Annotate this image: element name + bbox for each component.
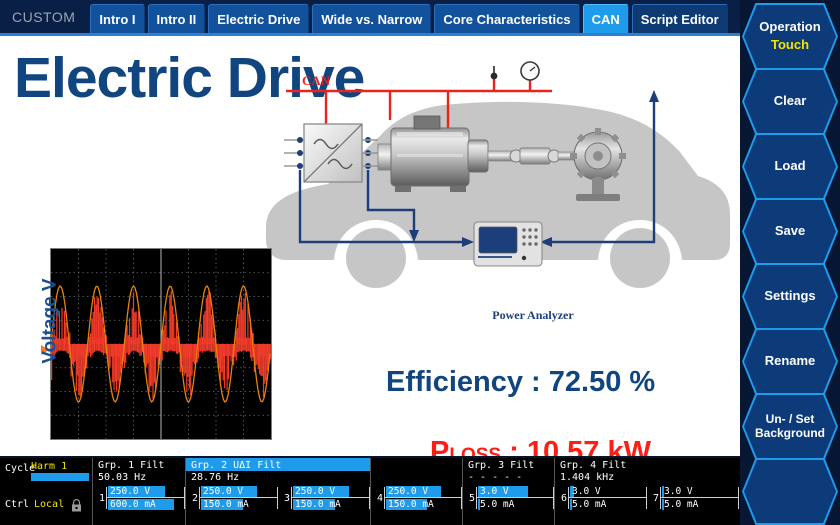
softkey-load-label: Load: [774, 159, 805, 174]
softkey-sidebar: Operation Touch Clear Load Save Settings: [740, 0, 840, 525]
softkey-clear-label: Clear: [774, 94, 807, 109]
channel-4-volt: 250.0 V: [388, 486, 428, 497]
group-1-title: Grp. 1 Filt: [93, 458, 185, 471]
softkey-rename-label: Rename: [765, 354, 816, 369]
softkey-rename[interactable]: Rename: [744, 330, 836, 393]
scope-display[interactable]: Voltage V: [50, 248, 278, 443]
softkey-operation[interactable]: Operation Touch: [744, 5, 836, 68]
main-canvas: Electric Drive: [0, 36, 740, 456]
ctrl-value[interactable]: Local: [34, 499, 64, 510]
channel-2-num: 2: [189, 493, 198, 504]
dynamometer: [570, 128, 626, 201]
softkey-empty[interactable]: [744, 460, 836, 523]
tab-core-characteristics[interactable]: Core Characteristics: [434, 4, 579, 33]
can-label: CAN: [302, 73, 331, 88]
power-analyzer-device: [474, 222, 542, 266]
group-1-column: Grp. 1 Filt 50.03 Hz 1 250.0 V 600.0 mA: [93, 458, 186, 525]
custom-label: CUSTOM: [8, 9, 87, 33]
group-3-column: Grp. 3 Filt - - - - - 5 3.0 V 5.0 mA: [463, 458, 555, 525]
tab-electric-drive[interactable]: Electric Drive: [208, 4, 309, 33]
inverter-input-terminals: [284, 137, 304, 169]
channel-5-bracket: 3.0 V 5.0 mA: [476, 485, 554, 511]
channel-5-amp: 5.0 mA: [480, 499, 514, 510]
channel-row[interactable]: 6 3.0 V 5.0 mA: [555, 484, 647, 512]
group-2-column: Grp. 2 UΔI Filt 28.76 Hz 2 250.0 V 150.0…: [186, 458, 371, 525]
channel-row[interactable]: 1 250.0 V 600.0 mA: [93, 484, 185, 512]
channel-row[interactable]: 3 250.0 V 150.0 mA: [278, 484, 370, 512]
softkey-unset-background[interactable]: Un- / Set Background: [744, 395, 836, 458]
shaft-coupling: [510, 148, 576, 164]
tab-bar: CUSTOM Intro I Intro II Electric Drive W…: [0, 0, 740, 33]
softkey-operation-frame[interactable]: Operation Touch: [742, 3, 838, 70]
channel-3-volt: 250.0 V: [295, 486, 335, 497]
channel-2-bracket: 250.0 V 150.0 mA: [199, 485, 278, 511]
channel-row[interactable]: 2 250.0 V 150.0 mA: [186, 484, 278, 512]
waveform-plot: [51, 249, 271, 439]
tab-intro-i[interactable]: Intro I: [90, 4, 144, 33]
tab-can[interactable]: CAN: [583, 4, 629, 33]
softkey-clear-frame[interactable]: Clear: [742, 68, 838, 135]
channel-3-num: 3: [281, 493, 290, 504]
tab-intro-ii[interactable]: Intro II: [148, 4, 206, 33]
power-loss-readout: PLOSS : 10.57 kW: [430, 436, 651, 456]
channel-6-num: 6: [558, 493, 567, 504]
channel-4-num: 4: [374, 493, 383, 504]
group-2-value: 28.76 Hz: [186, 471, 370, 484]
group-2-channel-4-column: . . 4 250.0 V 150.0 mA: [371, 458, 463, 525]
efficiency-value: 72.50 %: [549, 366, 655, 398]
softkey-background-frame[interactable]: Un- / Set Background: [742, 393, 838, 460]
softkey-load-frame[interactable]: Load: [742, 133, 838, 200]
power-analyzer-screen: CUSTOM Intro I Intro II Electric Drive W…: [0, 0, 840, 525]
group-4-value: 1.404 kHz: [555, 471, 740, 484]
cycle-value[interactable]: Harm 1: [31, 461, 67, 472]
ploss-separator: :: [501, 436, 527, 456]
ploss-subscript: LOSS: [449, 445, 501, 456]
drivetrain-schematic: CAN: [262, 58, 732, 308]
tab-wide-vs-narrow[interactable]: Wide vs. Narrow: [312, 4, 431, 33]
channel-5-num: 5: [466, 493, 475, 504]
softkey-empty-frame[interactable]: [742, 458, 838, 525]
channel-2-amp: 150.0 mA: [203, 499, 249, 510]
channel-4-amp: 150.0 mA: [388, 499, 434, 510]
channel-4-bracket: 250.0 V 150.0 mA: [384, 485, 462, 511]
softkey-save-frame[interactable]: Save: [742, 198, 838, 265]
softkey-operation-value: Touch: [771, 38, 809, 53]
scope-screen[interactable]: [50, 248, 272, 440]
sensor-icons: [491, 62, 539, 80]
group-4-title: Grp. 4 Filt: [555, 458, 740, 471]
inverter-output-terminals: [362, 137, 378, 169]
channel-1-volt: 250.0 V: [110, 486, 150, 497]
channel-6-volt: 3.0 V: [572, 486, 601, 497]
softkey-settings-label: Settings: [764, 289, 815, 304]
ploss-label: P: [430, 436, 449, 456]
cycle-control-column: Cycle Harm 1 Ctrl Local: [0, 458, 93, 525]
softkey-settings[interactable]: Settings: [744, 265, 836, 328]
group-2-title[interactable]: Grp. 2 UΔI Filt: [186, 458, 370, 471]
softkey-rename-frame[interactable]: Rename: [742, 328, 838, 395]
lock-icon[interactable]: [71, 499, 82, 512]
inverter-block: [304, 124, 362, 182]
channel-row[interactable]: 4 250.0 V 150.0 mA: [371, 484, 462, 512]
softkey-operation-label: Operation: [759, 20, 820, 35]
channel-row[interactable]: 7 3.0 V 5.0 mA: [647, 484, 739, 512]
ploss-value: 10.57 kW: [527, 436, 651, 456]
scope-caption: VFD Output: [68, 454, 185, 456]
channel-7-volt: 3.0 V: [664, 486, 693, 497]
channel-2-volt: 250.0 V: [203, 486, 243, 497]
softkey-clear[interactable]: Clear: [744, 70, 836, 133]
efficiency-readout: Efficiency : 72.50 %: [386, 366, 655, 399]
channel-3-bracket: 250.0 V 150.0 mA: [291, 485, 370, 511]
electric-motor: [378, 116, 512, 192]
channel-row[interactable]: 5 3.0 V 5.0 mA: [463, 484, 554, 512]
efficiency-label: Efficiency :: [386, 366, 549, 398]
channel-3-amp: 150.0 mA: [295, 499, 341, 510]
softkey-settings-frame[interactable]: Settings: [742, 263, 838, 330]
status-bar: Cycle Harm 1 Ctrl Local Grp. 1 Filt 50.0…: [0, 458, 740, 525]
group-3-value: - - - - -: [463, 471, 554, 484]
softkey-save[interactable]: Save: [744, 200, 836, 263]
channel-1-amp: 600.0 mA: [110, 499, 156, 510]
channel-7-amp: 5.0 mA: [664, 499, 698, 510]
group-3-title: Grp. 3 Filt: [463, 458, 554, 471]
channel-1-num: 1: [96, 493, 105, 504]
channel-7-num: 7: [650, 493, 659, 504]
channel-5-volt: 3.0 V: [480, 486, 509, 497]
group-4-column: Grp. 4 Filt 1.404 kHz 6 3.0 V 5.0 mA 7 3…: [555, 458, 740, 525]
channel-1-bracket: 250.0 V 600.0 mA: [106, 485, 185, 511]
group-1-value: 50.03 Hz: [93, 471, 185, 484]
softkey-save-label: Save: [775, 224, 805, 239]
ctrl-label: Ctrl: [5, 499, 29, 510]
cycle-bar: [31, 473, 89, 481]
softkey-load[interactable]: Load: [744, 135, 836, 198]
power-analyzer-label: Power Analyzer: [478, 308, 588, 323]
channel-6-bracket: 3.0 V 5.0 mA: [568, 485, 647, 511]
channel-7-bracket: 3.0 V 5.0 mA: [660, 485, 739, 511]
scope-y-axis-label: Voltage V: [40, 278, 62, 363]
channel-6-amp: 5.0 mA: [572, 499, 606, 510]
tab-script-editor[interactable]: Script Editor: [632, 4, 728, 33]
